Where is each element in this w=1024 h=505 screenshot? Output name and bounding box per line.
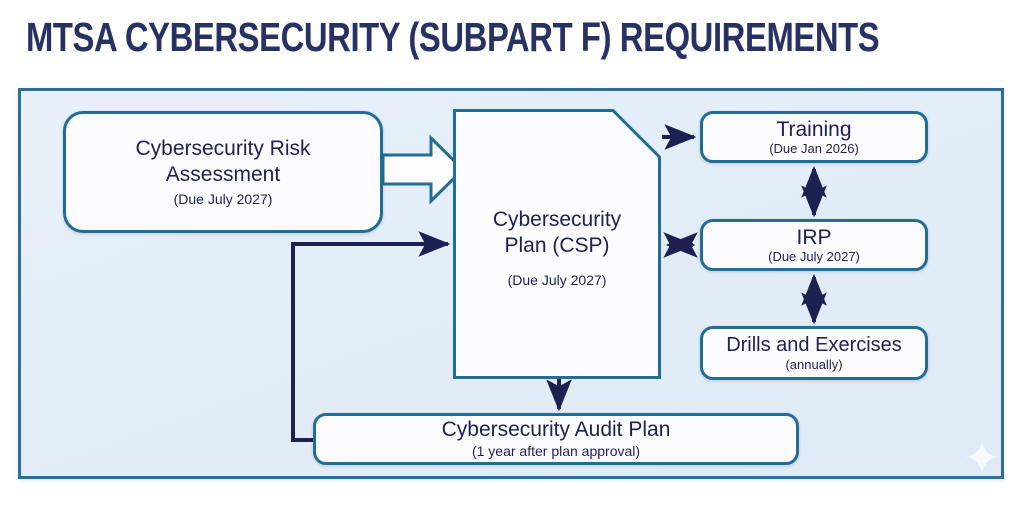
page-title: MTSA CYBERSECURITY (SUBPART F) REQUIREME…	[26, 12, 794, 64]
node-training[interactable]: Training (Due Jan 2026)	[700, 111, 928, 163]
node-csp-subtitle: (Due July 2027)	[508, 271, 607, 289]
node-training-subtitle: (Due Jan 2026)	[769, 141, 859, 156]
connector-audit-plan-to-csp	[293, 244, 448, 440]
node-irp[interactable]: IRP (Due July 2027)	[700, 219, 928, 271]
node-csp[interactable]: Cybersecurity Plan (CSP) (Due July 2027)	[453, 109, 661, 379]
node-risk-assessment-title: Cybersecurity Risk Assessment	[135, 136, 310, 188]
node-drills-title: Drills and Exercises	[726, 334, 902, 357]
node-csp-title: Cybersecurity Plan (CSP)	[493, 207, 621, 259]
node-audit-plan-subtitle: (1 year after plan approval)	[472, 442, 640, 460]
node-risk-assessment-subtitle: (Due July 2027)	[174, 190, 273, 208]
node-drills-subtitle: (annually)	[785, 357, 842, 372]
node-irp-subtitle: (Due July 2027)	[768, 249, 860, 264]
node-drills[interactable]: Drills and Exercises (annually)	[700, 326, 928, 380]
node-audit-plan-title: Cybersecurity Audit Plan	[442, 418, 671, 442]
diagram-panel: Cybersecurity Risk Assessment (Due July …	[18, 88, 1004, 479]
connector-risk-to-csp	[383, 138, 463, 201]
node-irp-title: IRP	[796, 226, 831, 249]
node-risk-assessment[interactable]: Cybersecurity Risk Assessment (Due July …	[63, 111, 383, 233]
node-audit-plan[interactable]: Cybersecurity Audit Plan (1 year after p…	[313, 413, 799, 465]
node-training-title: Training	[776, 118, 851, 141]
